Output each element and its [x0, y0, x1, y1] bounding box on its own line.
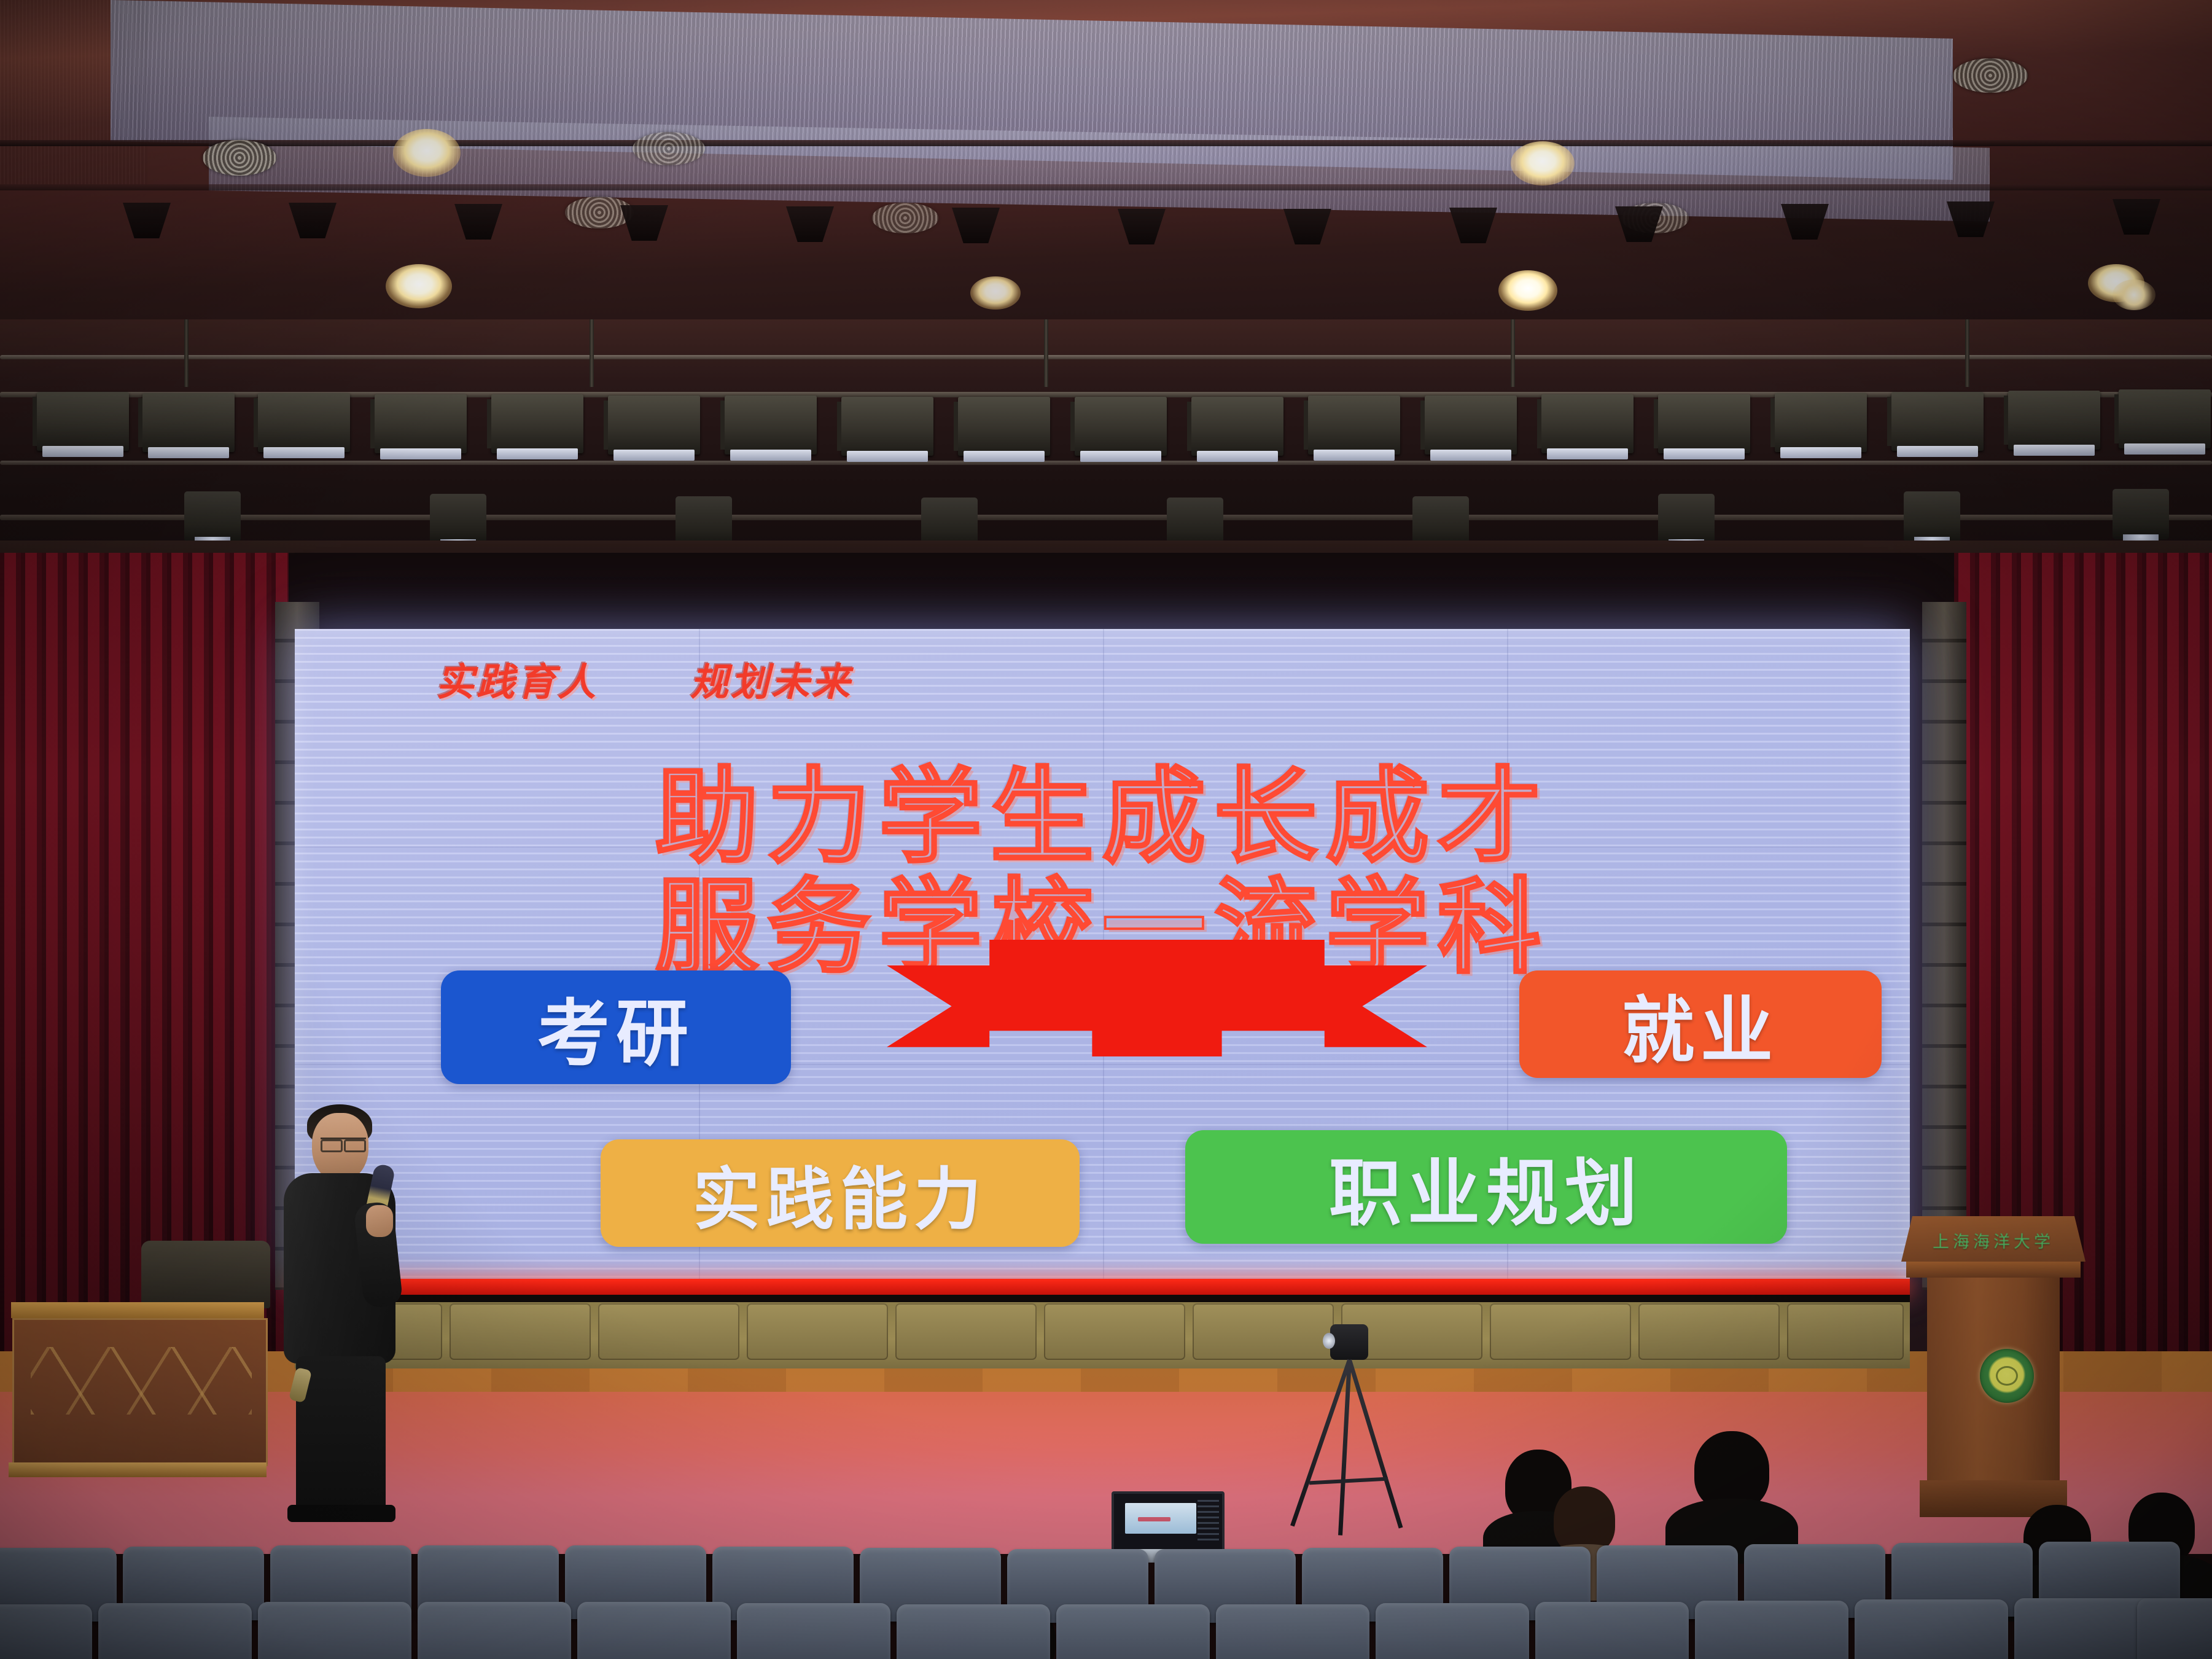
truss-pipe — [0, 355, 2212, 359]
podium-deck-text: 上海海洋大学 — [1901, 1228, 2085, 1252]
acoustic-cone — [1615, 206, 1663, 242]
slide-pill-job: 就业 — [1519, 970, 1882, 1078]
acoustic-cone — [1449, 208, 1497, 243]
acoustic-cone — [123, 203, 171, 238]
stage-table — [0, 1289, 264, 1491]
auditorium-seat — [2137, 1598, 2212, 1659]
ceiling-beam-1 — [0, 140, 2212, 146]
ceiling-downlight — [1498, 270, 1557, 311]
stage-light-fixture — [1891, 392, 1984, 451]
auditorium-seat — [418, 1602, 571, 1659]
ceiling-downlight — [393, 129, 461, 177]
ceiling-beam-2 — [0, 184, 2212, 190]
slide-pill-exam: 考研 — [441, 970, 791, 1084]
auditorium-seat — [98, 1603, 252, 1659]
stage-light-fixture — [142, 393, 235, 452]
university-crest-icon — [1980, 1349, 2034, 1403]
auditorium-seat — [1376, 1603, 1529, 1659]
apron-panel — [1638, 1303, 1780, 1360]
auditorium-seat — [897, 1604, 1050, 1659]
acoustic-cone — [1947, 201, 1995, 237]
auditorium-photo: 实践育人 规划未来 助力学生成长成才 服务学校一流学科 考研 就业 实践能力 职… — [0, 0, 2212, 1659]
stage-light-fixture — [1658, 394, 1750, 453]
stage-light-fixture — [375, 394, 467, 453]
acoustic-cone — [952, 208, 1000, 243]
stage-light-fixture — [1541, 394, 1634, 453]
acoustic-cone — [289, 203, 337, 238]
moving-head-light — [184, 491, 241, 542]
ceiling-rib-left — [0, 0, 147, 184]
acoustic-cone — [786, 206, 834, 242]
acoustic-cone — [1118, 209, 1166, 244]
tripod-spreader — [1309, 1477, 1388, 1485]
slide-kicker: 实践育人 规划未来 — [295, 651, 1910, 706]
presenter-hand — [366, 1205, 393, 1237]
stage-light-fixture — [1425, 396, 1517, 455]
ceiling-downlight — [970, 276, 1021, 310]
acoustic-cone — [454, 204, 502, 240]
apron-panel — [450, 1303, 591, 1360]
moving-head-light — [1412, 496, 1469, 547]
stage-light-fixture — [258, 393, 350, 452]
ceiling-spotlight — [2113, 279, 2156, 310]
truss-hang-rod — [1965, 319, 1969, 387]
lectern-podium: 上海海洋大学 — [1901, 1216, 2085, 1517]
truss-bar — [0, 515, 2212, 520]
stage-curtain-left — [0, 553, 289, 1351]
stage-light-fixture — [1775, 393, 1867, 452]
stage-light-fixture — [1191, 397, 1283, 456]
presenter-person — [274, 1099, 434, 1529]
moving-head-light — [1658, 494, 1715, 544]
presenter-shoe — [333, 1505, 395, 1522]
spiral-ceiling-speaker — [872, 203, 938, 233]
apron-panel — [1193, 1303, 1334, 1360]
moving-head-light — [1904, 491, 1960, 542]
camera-body — [1330, 1324, 1368, 1360]
stage-light-fixture — [491, 394, 583, 453]
apron-panel — [1490, 1303, 1631, 1360]
slide-pill-practice: 实践能力 — [601, 1139, 1080, 1247]
moving-head-light — [2113, 489, 2169, 539]
tripod-leg — [1347, 1359, 1403, 1529]
truss-hang-rod — [184, 319, 189, 387]
kicker-text-right: 规划未来 — [690, 651, 852, 706]
stage-apron — [295, 1295, 1910, 1368]
auditorium-seat — [0, 1604, 92, 1659]
ceiling — [0, 0, 2212, 344]
slide-pill-planning: 职业规划 — [1185, 1130, 1787, 1244]
auditorium-seat — [1216, 1604, 1369, 1659]
proscenium-pillar-right — [1922, 602, 1966, 1290]
moving-head-light — [676, 496, 732, 547]
acoustic-cone — [1781, 204, 1829, 240]
stage-light-fixture — [958, 397, 1050, 456]
audience-head — [1694, 1431, 1769, 1510]
ceiling-downlight — [386, 264, 452, 308]
apron-panel — [1787, 1303, 1904, 1360]
spiral-ceiling-speaker — [1953, 58, 2028, 93]
truss-hang-rod — [1044, 319, 1048, 387]
auditorium-seat — [1535, 1602, 1689, 1659]
spiral-ceiling-speaker — [633, 132, 705, 165]
auditorium-seat — [258, 1602, 411, 1659]
eyeglasses-icon — [321, 1138, 366, 1150]
tripod-camera — [1290, 1356, 1406, 1540]
stage-light-fixture — [2008, 391, 2100, 450]
auditorium-seat — [1056, 1604, 1210, 1659]
stage-light-fixture — [725, 396, 817, 455]
table-base-trim — [9, 1462, 267, 1477]
auditorium-seat — [1695, 1601, 1848, 1659]
auditorium-seat — [737, 1603, 890, 1659]
kicker-text-left: 实践育人 — [436, 651, 598, 706]
ceiling-downlight — [1511, 141, 1575, 185]
truss-hang-rod — [1511, 319, 1515, 387]
auditorium-seat — [577, 1602, 731, 1659]
stage-light-fixture — [37, 392, 129, 451]
apron-panel — [598, 1303, 739, 1360]
apron-panel — [1044, 1303, 1185, 1360]
audience-seating — [0, 1529, 2212, 1659]
acoustic-cone — [620, 205, 668, 241]
acoustic-cone — [2113, 199, 2160, 235]
truss-hang-rod — [590, 319, 594, 387]
stage-light-fixture — [1308, 396, 1400, 455]
stage-light-fixture — [608, 396, 700, 455]
stage-light-fixture — [2119, 389, 2211, 448]
auditorium-seat — [1855, 1599, 2008, 1659]
spiral-ceiling-speaker — [203, 140, 276, 176]
table-top — [11, 1302, 264, 1318]
apron-panel — [895, 1303, 1037, 1360]
stage-light-fixture — [841, 397, 933, 456]
moving-head-light — [430, 494, 486, 544]
table-diamond-trim — [31, 1347, 252, 1415]
stage-front-led-strip — [295, 1279, 1910, 1295]
stage-light-fixture — [1075, 397, 1167, 456]
acoustic-cone — [1283, 209, 1331, 244]
podium-lip — [1906, 1262, 2081, 1278]
apron-panel — [747, 1303, 888, 1360]
